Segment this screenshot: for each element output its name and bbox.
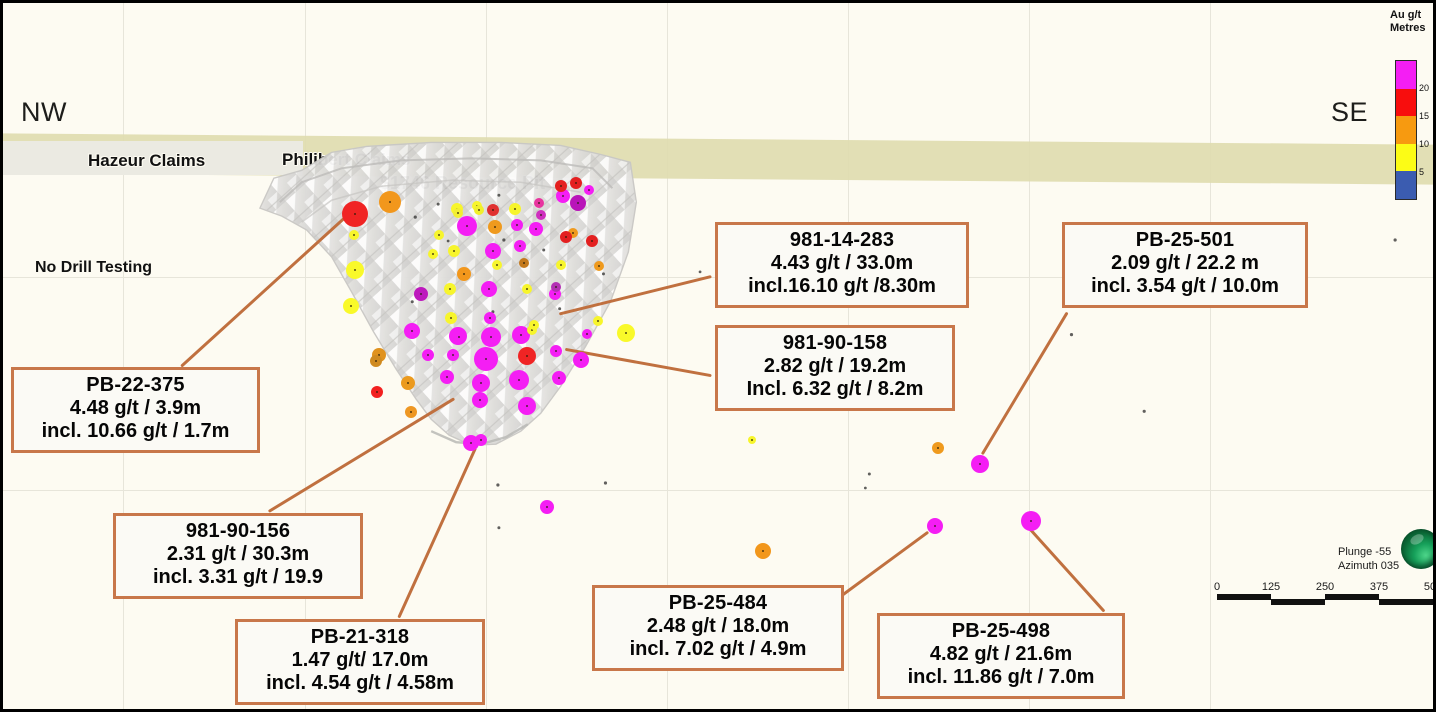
drill-marker [584,185,594,195]
scale-label: 500 [1424,581,1436,593]
drill-marker [519,258,529,268]
drill-marker [484,312,496,324]
drill-marker [555,180,567,192]
drill-marker [755,543,771,559]
drill-marker [401,376,415,390]
drill-marker [428,249,438,259]
callout-pb-25-498: PB-25-4984.82 g/t / 21.6mincl. 11.86 g/t… [877,613,1125,699]
drill-marker [472,392,488,408]
callout-981-90-156: 981-90-1562.31 g/t / 30.3mincl. 3.31 g/t… [113,513,363,599]
scale-segment [1217,594,1271,600]
callout-hole-id: PB-25-501 [1075,229,1295,252]
callout-hole-id: PB-25-484 [605,592,831,615]
scale-segment [1271,599,1325,605]
drill-marker [492,260,502,270]
callout-interval: 4.82 g/t / 21.6m [890,643,1112,666]
drill-marker [560,231,572,243]
callout-pb-25-501: PB-25-5012.09 g/t / 22.2 mincl. 3.54 g/t… [1062,222,1308,308]
drill-marker [570,195,586,211]
callout-981-90-158: 981-90-1582.82 g/t / 19.2mIncl. 6.32 g/t… [715,325,955,411]
drill-marker [349,230,359,240]
drill-marker [448,245,460,257]
legend-color-bar [1395,60,1417,200]
drill-marker [932,442,944,454]
drill-marker [447,349,459,361]
callout-interval: 4.43 g/t / 33.0m [728,252,956,275]
drill-marker [511,219,523,231]
section-canvas: NW SE Hazeur ClaimsPhilibert Claims$1746… [3,3,1433,709]
drill-marker [457,216,477,236]
callout-hole-id: PB-21-318 [248,626,472,649]
drill-marker [445,312,457,324]
callout-included-interval: Incl. 6.32 g/t / 8.2m [728,378,942,401]
callout-hole-id: PB-25-498 [890,620,1112,643]
callout-interval: 2.82 g/t / 19.2m [728,355,942,378]
callout-hole-id: 981-14-283 [728,229,956,252]
drill-marker [536,210,546,220]
azimuth-value: Azimuth 035 [1338,560,1399,574]
drill-marker [971,455,989,473]
drill-marker [481,327,501,347]
drill-marker [550,345,562,357]
callout-hole-id: 981-90-156 [126,520,350,543]
scale-label: 250 [1316,581,1334,593]
view-orientation-info: Plunge -55 Azimuth 035 [1338,546,1399,574]
drill-marker [472,374,490,392]
drill-marker [452,330,466,344]
drill-marker [434,230,444,240]
legend-title-line2: Metres [1390,22,1425,35]
callout-interval: 2.31 g/t / 30.3m [126,543,350,566]
drill-marker [370,355,382,367]
callout-interval: 2.09 g/t / 22.2 m [1075,252,1295,275]
au-grade-legend: Au g/t Metres 2015105 [1387,3,1433,213]
callout-included-interval: incl. 4.54 g/t / 4.58m [248,672,472,695]
callout-pb-21-318: PB-21-3181.47 g/t/ 17.0mincl. 4.54 g/t /… [235,619,485,705]
drill-marker [529,320,539,330]
drill-marker [475,434,487,446]
legend-tick-20: 20 [1419,83,1429,93]
legend-band [1396,61,1416,89]
legend-tick-15: 15 [1419,111,1429,121]
drill-marker [444,283,456,295]
drill-marker [485,243,501,259]
drill-marker [481,281,497,297]
scale-label: 0 [1214,581,1220,593]
callout-included-interval: incl. 3.31 g/t / 19.9 [126,566,350,589]
drill-marker [404,323,420,339]
legend-band [1396,171,1416,199]
drill-marker [343,298,359,314]
drill-marker [379,191,401,213]
drill-marker [405,406,417,418]
drill-marker [586,235,598,247]
legend-band [1396,89,1416,117]
drill-marker [582,329,592,339]
drill-marker [551,282,561,292]
drill-marker [346,261,364,279]
drill-marker [552,371,566,385]
drill-marker [518,397,536,415]
drill-marker [342,201,368,227]
callout-interval: 2.48 g/t / 18.0m [605,615,831,638]
drill-marker [474,205,484,215]
drill-marker [570,177,582,189]
callout-included-interval: incl.16.10 g/t /8.30m [728,275,956,298]
drill-marker [440,370,454,384]
legend-title: Au g/t Metres [1390,9,1425,34]
callout-included-interval: incl. 3.54 g/t / 10.0m [1075,275,1295,298]
legend-title-line1: Au g/t [1390,9,1425,22]
legend-tick-10: 10 [1419,139,1429,149]
drill-marker [556,260,566,270]
drill-marker [573,352,589,368]
drill-marker [617,324,635,342]
compass-sphere-icon [1401,529,1436,569]
drill-marker [534,198,544,208]
legend-band [1396,144,1416,172]
callout-interval: 1.47 g/t/ 17.0m [248,649,472,672]
drill-marker [514,240,526,252]
legend-tick-5: 5 [1419,167,1424,177]
legend-band [1396,116,1416,144]
drill-marker [422,349,434,361]
callout-pb-22-375: PB-22-3754.48 g/t / 3.9mincl. 10.66 g/t … [11,367,260,453]
scale-segment [1379,599,1433,605]
drill-marker [593,316,603,326]
drill-marker [1021,511,1041,531]
plunge-value: Plunge -55 [1338,546,1399,560]
callout-included-interval: incl. 7.02 g/t / 4.9m [605,638,831,661]
callout-pb-25-484: PB-25-4842.48 g/t / 18.0mincl. 7.02 g/t … [592,585,844,671]
callout-included-interval: incl. 10.66 g/t / 1.7m [24,420,247,443]
drill-marker [518,347,536,365]
callout-981-14-283: 981-14-2834.43 g/t / 33.0mincl.16.10 g/t… [715,222,969,308]
drill-marker [371,386,383,398]
drill-marker [488,220,502,234]
callout-hole-id: PB-22-375 [24,374,247,397]
drill-marker [457,267,471,281]
section-figure: NW SE Hazeur ClaimsPhilibert Claims$1746… [0,0,1436,712]
callout-hole-id: 981-90-158 [728,332,942,355]
drill-marker [487,204,499,216]
drill-marker [509,370,529,390]
drill-marker [414,287,428,301]
drill-marker [474,347,498,371]
drill-marker [594,261,604,271]
scale-label: 125 [1262,581,1280,593]
drill-marker [540,500,554,514]
scale-segment [1325,594,1379,600]
drill-marker [509,203,521,215]
drill-marker [927,518,943,534]
drill-marker [522,284,532,294]
drill-marker [529,222,543,236]
drill-marker [748,436,756,444]
scale-label: 375 [1370,581,1388,593]
callout-included-interval: incl. 11.86 g/t / 7.0m [890,666,1112,689]
callout-interval: 4.48 g/t / 3.9m [24,397,247,420]
